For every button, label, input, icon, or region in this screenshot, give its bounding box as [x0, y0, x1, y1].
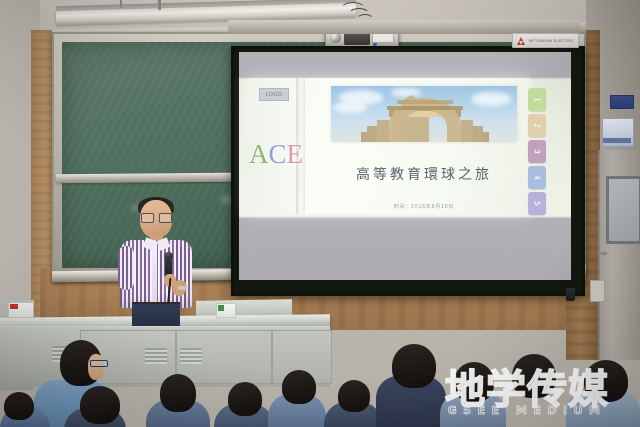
student-head [4, 392, 34, 420]
student-head [282, 370, 316, 404]
slide-tab-1-label: 1 [532, 97, 541, 101]
wall-sign [610, 95, 634, 109]
ace-letter-e: E [287, 139, 304, 169]
door-window [606, 176, 640, 244]
wall-poster-band [603, 138, 631, 143]
light-mount-rod [120, 0, 122, 8]
slide-tab-2-label: 2 [532, 123, 541, 127]
ace-letter-a: A [249, 139, 269, 169]
student-face [88, 354, 104, 380]
presenter-left-arm [118, 246, 134, 290]
door-handle[interactable] [600, 252, 607, 255]
screen-brand-plate: MITSUBISHI ELECTRIC [512, 33, 579, 48]
counter-box-label [10, 304, 18, 309]
student-head [80, 386, 120, 424]
student-head [338, 380, 370, 412]
student-head [228, 382, 262, 416]
slide-tab-4: 4 [528, 166, 546, 189]
counter-box-label [218, 305, 224, 311]
slide-tab-3: 3 [528, 140, 546, 163]
slide-title: 高等教育環球之旅 [331, 164, 517, 184]
presenter-watch [178, 286, 187, 290]
student-head [454, 362, 494, 402]
light-mount-rod [158, 0, 161, 10]
slide-ace-letters: ACE [249, 139, 301, 170]
student-head [160, 374, 196, 412]
slide-tab-2: 2 [528, 114, 546, 137]
presenter-glasses-icon [141, 213, 171, 221]
presenter [118, 200, 196, 322]
slide-archway-photo [331, 86, 517, 142]
presenter-shirt-placket [152, 242, 157, 306]
screen-brand-text: MITSUBISHI ELECTRIC [529, 39, 574, 43]
slide-tab-4-label: 4 [532, 175, 541, 179]
slide-logo-text: LOGO [266, 92, 282, 98]
archway-silhouette [331, 86, 517, 142]
slide-logo-placeholder: LOGO [259, 88, 289, 101]
presenter-trousers [132, 304, 180, 326]
slide-date: 时间：2016年6月16日 [331, 203, 517, 210]
student-head [512, 354, 556, 398]
slide-tab-5-label: 5 [532, 201, 541, 205]
slide-tab-1: 1 [528, 88, 546, 111]
ace-letter-c: C [269, 139, 287, 169]
slide-tab-strip: 1 2 3 4 5 [528, 88, 546, 218]
student-head [392, 344, 436, 388]
projector-label [372, 33, 394, 43]
mitsubishi-logo-icon [517, 37, 526, 45]
slide-tab-5: 5 [528, 192, 546, 215]
student-head [584, 360, 628, 402]
audience [0, 336, 640, 427]
classroom-photo: LOGO ACE 高等教育環球之旅 时间：2016年6月16日 1 2 3 4 … [0, 0, 640, 427]
slide-tab-3-label: 3 [532, 149, 541, 153]
light-switch-plate[interactable] [590, 280, 605, 302]
wall-mounted-device [566, 288, 575, 301]
student-glasses-icon [90, 360, 108, 367]
screen-roller-case [228, 20, 580, 34]
